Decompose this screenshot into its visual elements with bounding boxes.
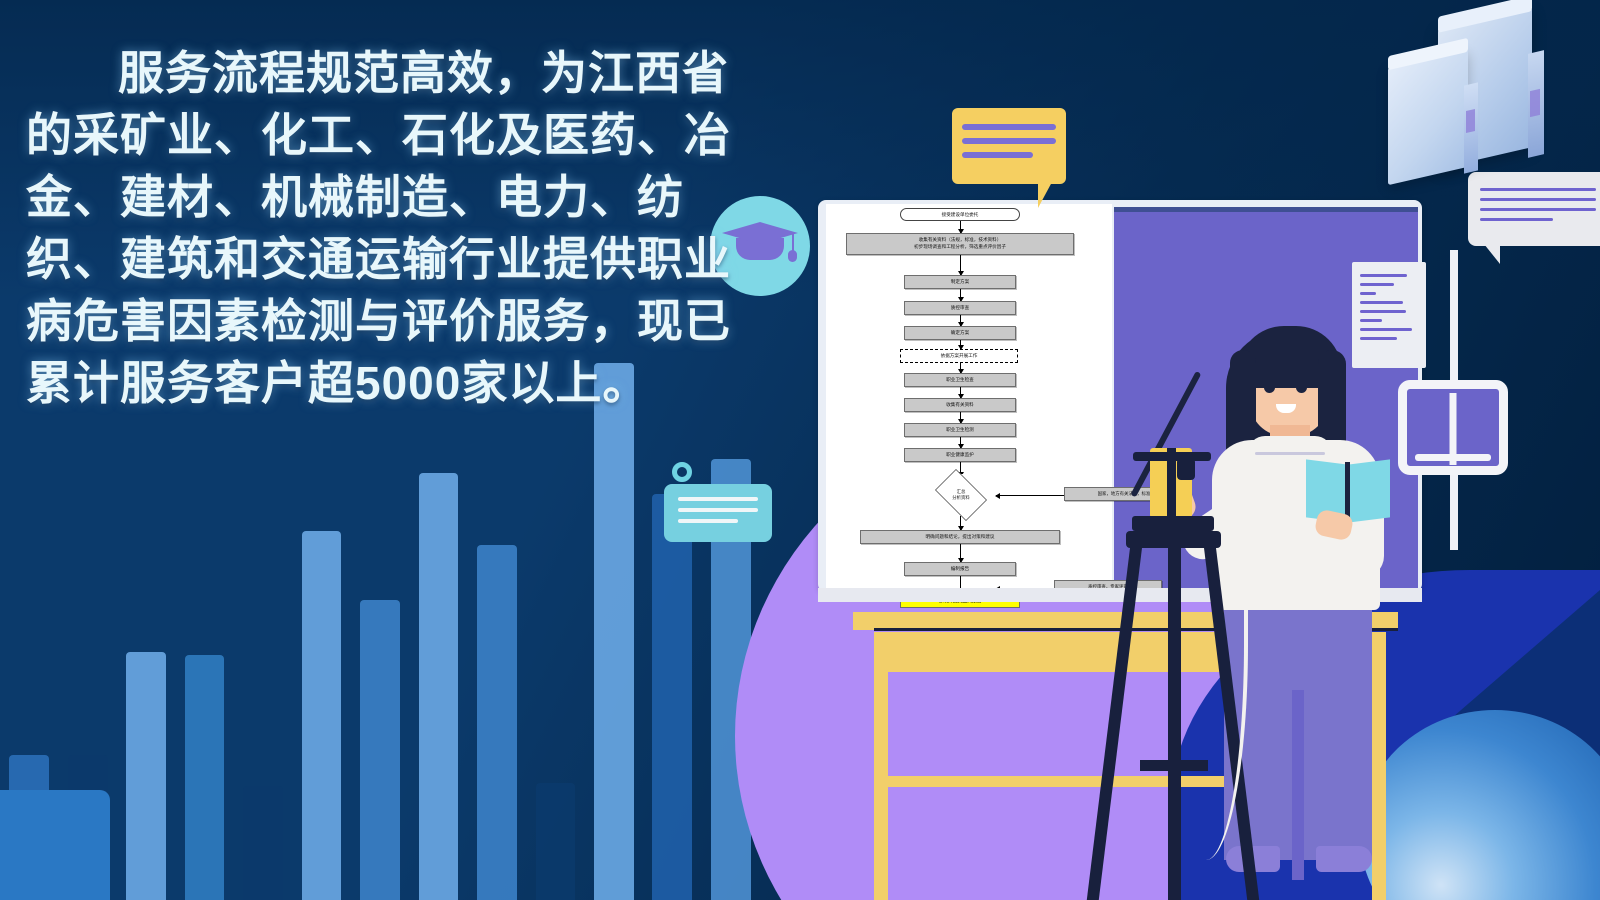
flow-node-n9: 职业卫生检测: [904, 423, 1016, 437]
wall-poster: [1352, 262, 1426, 368]
flow-node-n4: 质控审查: [904, 301, 1016, 315]
flow-node-n11: 汇总 分析资料: [930, 474, 992, 516]
microscope-knob: [1177, 458, 1195, 480]
person-leg-split: [1292, 690, 1304, 880]
decor-blue-slab: [0, 790, 110, 900]
speech-bubble-gray-icon: [1468, 172, 1600, 246]
flow-node-n7: 职业卫生检查: [904, 373, 1016, 387]
bar-3: [126, 652, 166, 900]
microscope-arm: [1133, 452, 1211, 461]
book-large-label: [1530, 89, 1540, 117]
flow-node-n10: 职业健康监护: [904, 448, 1016, 462]
person-collar-line: [1255, 452, 1325, 455]
flow-node-n5: 确定方案: [904, 326, 1016, 340]
bar-12: [652, 494, 692, 900]
book-small-icon: [1388, 49, 1468, 185]
speech-bubble-yellow-icon: [952, 108, 1066, 184]
headline-line-1: 服务流程规范高效，为江西省: [26, 42, 766, 104]
bar-7: [360, 600, 400, 900]
poster-canvas: 接受建设单位委托 收集有关资料（法规，标准，技术资料） 初步现场调查和工程分析，…: [0, 0, 1600, 900]
graduation-cap-knot: [788, 250, 797, 262]
headline-line-5: 病危害因素检测与评价服务，现已: [26, 290, 766, 352]
flow-node-n1: 接受建设单位委托: [900, 208, 1020, 221]
flow-node-n2: 收集有关资料（法规，标准，技术资料） 初步现场调查和工程分析，筛选重点评价因子: [846, 233, 1074, 255]
flow-node-n13: 编制报告: [904, 562, 1016, 576]
decor-ring-icon: [672, 462, 692, 482]
bar-11: [594, 363, 634, 900]
bar-6: [302, 531, 342, 900]
flowchart: 接受建设单位委托 收集有关资料（法规，标准，技术资料） 初步现场调查和工程分析，…: [838, 206, 1100, 582]
bar-5: [243, 786, 283, 900]
headline-line-4: 织、建筑和交通运输行业提供职业: [26, 228, 766, 290]
flow-node-n12: 明确问题和结论，提出对策和建议: [860, 530, 1060, 544]
flow-node-n6: 依据方案开展工作: [900, 349, 1018, 363]
headline-line-2: 的采矿业、化工、石化及医药、冶: [26, 104, 766, 166]
card-teal-icon: [664, 484, 772, 542]
bar-4: [185, 655, 225, 900]
bar-10: [536, 783, 576, 900]
flow-node-n3: 制定方案: [904, 275, 1016, 289]
person-shoe-right: [1316, 846, 1372, 872]
flow-node-n8: 收集有关资料: [904, 398, 1016, 412]
book-small-label: [1466, 109, 1475, 133]
person-book-spine: [1345, 462, 1350, 520]
bar-9: [477, 545, 517, 900]
headline-line-3: 金、建材、机械制造、电力、纺: [26, 166, 766, 228]
person-book-right-page: [1348, 459, 1390, 522]
bar-8: [419, 473, 459, 900]
open-book-icon: [1398, 380, 1508, 475]
headline-line-6: 累计服务客户超5000家以上。: [26, 352, 766, 414]
headline-text: 服务流程规范高效，为江西省 的采矿业、化工、石化及医药、冶 金、建材、机械制造、…: [26, 42, 766, 414]
